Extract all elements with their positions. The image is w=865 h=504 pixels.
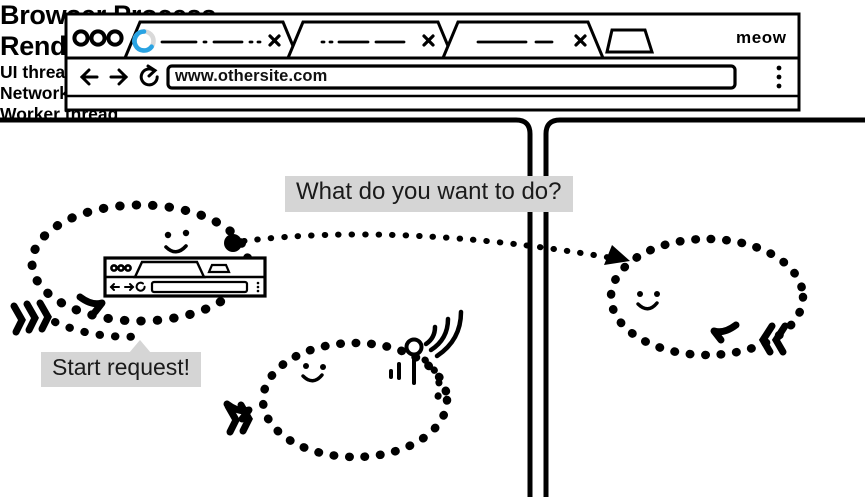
panel-renderer-process bbox=[546, 120, 865, 497]
question-bubble: What do you want to do? bbox=[285, 176, 573, 212]
mini-browser-window-icon bbox=[105, 258, 265, 296]
ui-to-network-path bbox=[55, 322, 145, 337]
message-origin-dot bbox=[224, 234, 242, 252]
diagram-canvas: www.othersite.com meow bbox=[0, 0, 865, 504]
message-arrow-path bbox=[244, 234, 612, 258]
start-request-bubble-group: Start request! bbox=[41, 352, 201, 387]
worker-thread-figure bbox=[611, 239, 803, 355]
process-diagram-graphics bbox=[0, 0, 865, 504]
start-request-bubble-text: Start request! bbox=[41, 352, 201, 387]
